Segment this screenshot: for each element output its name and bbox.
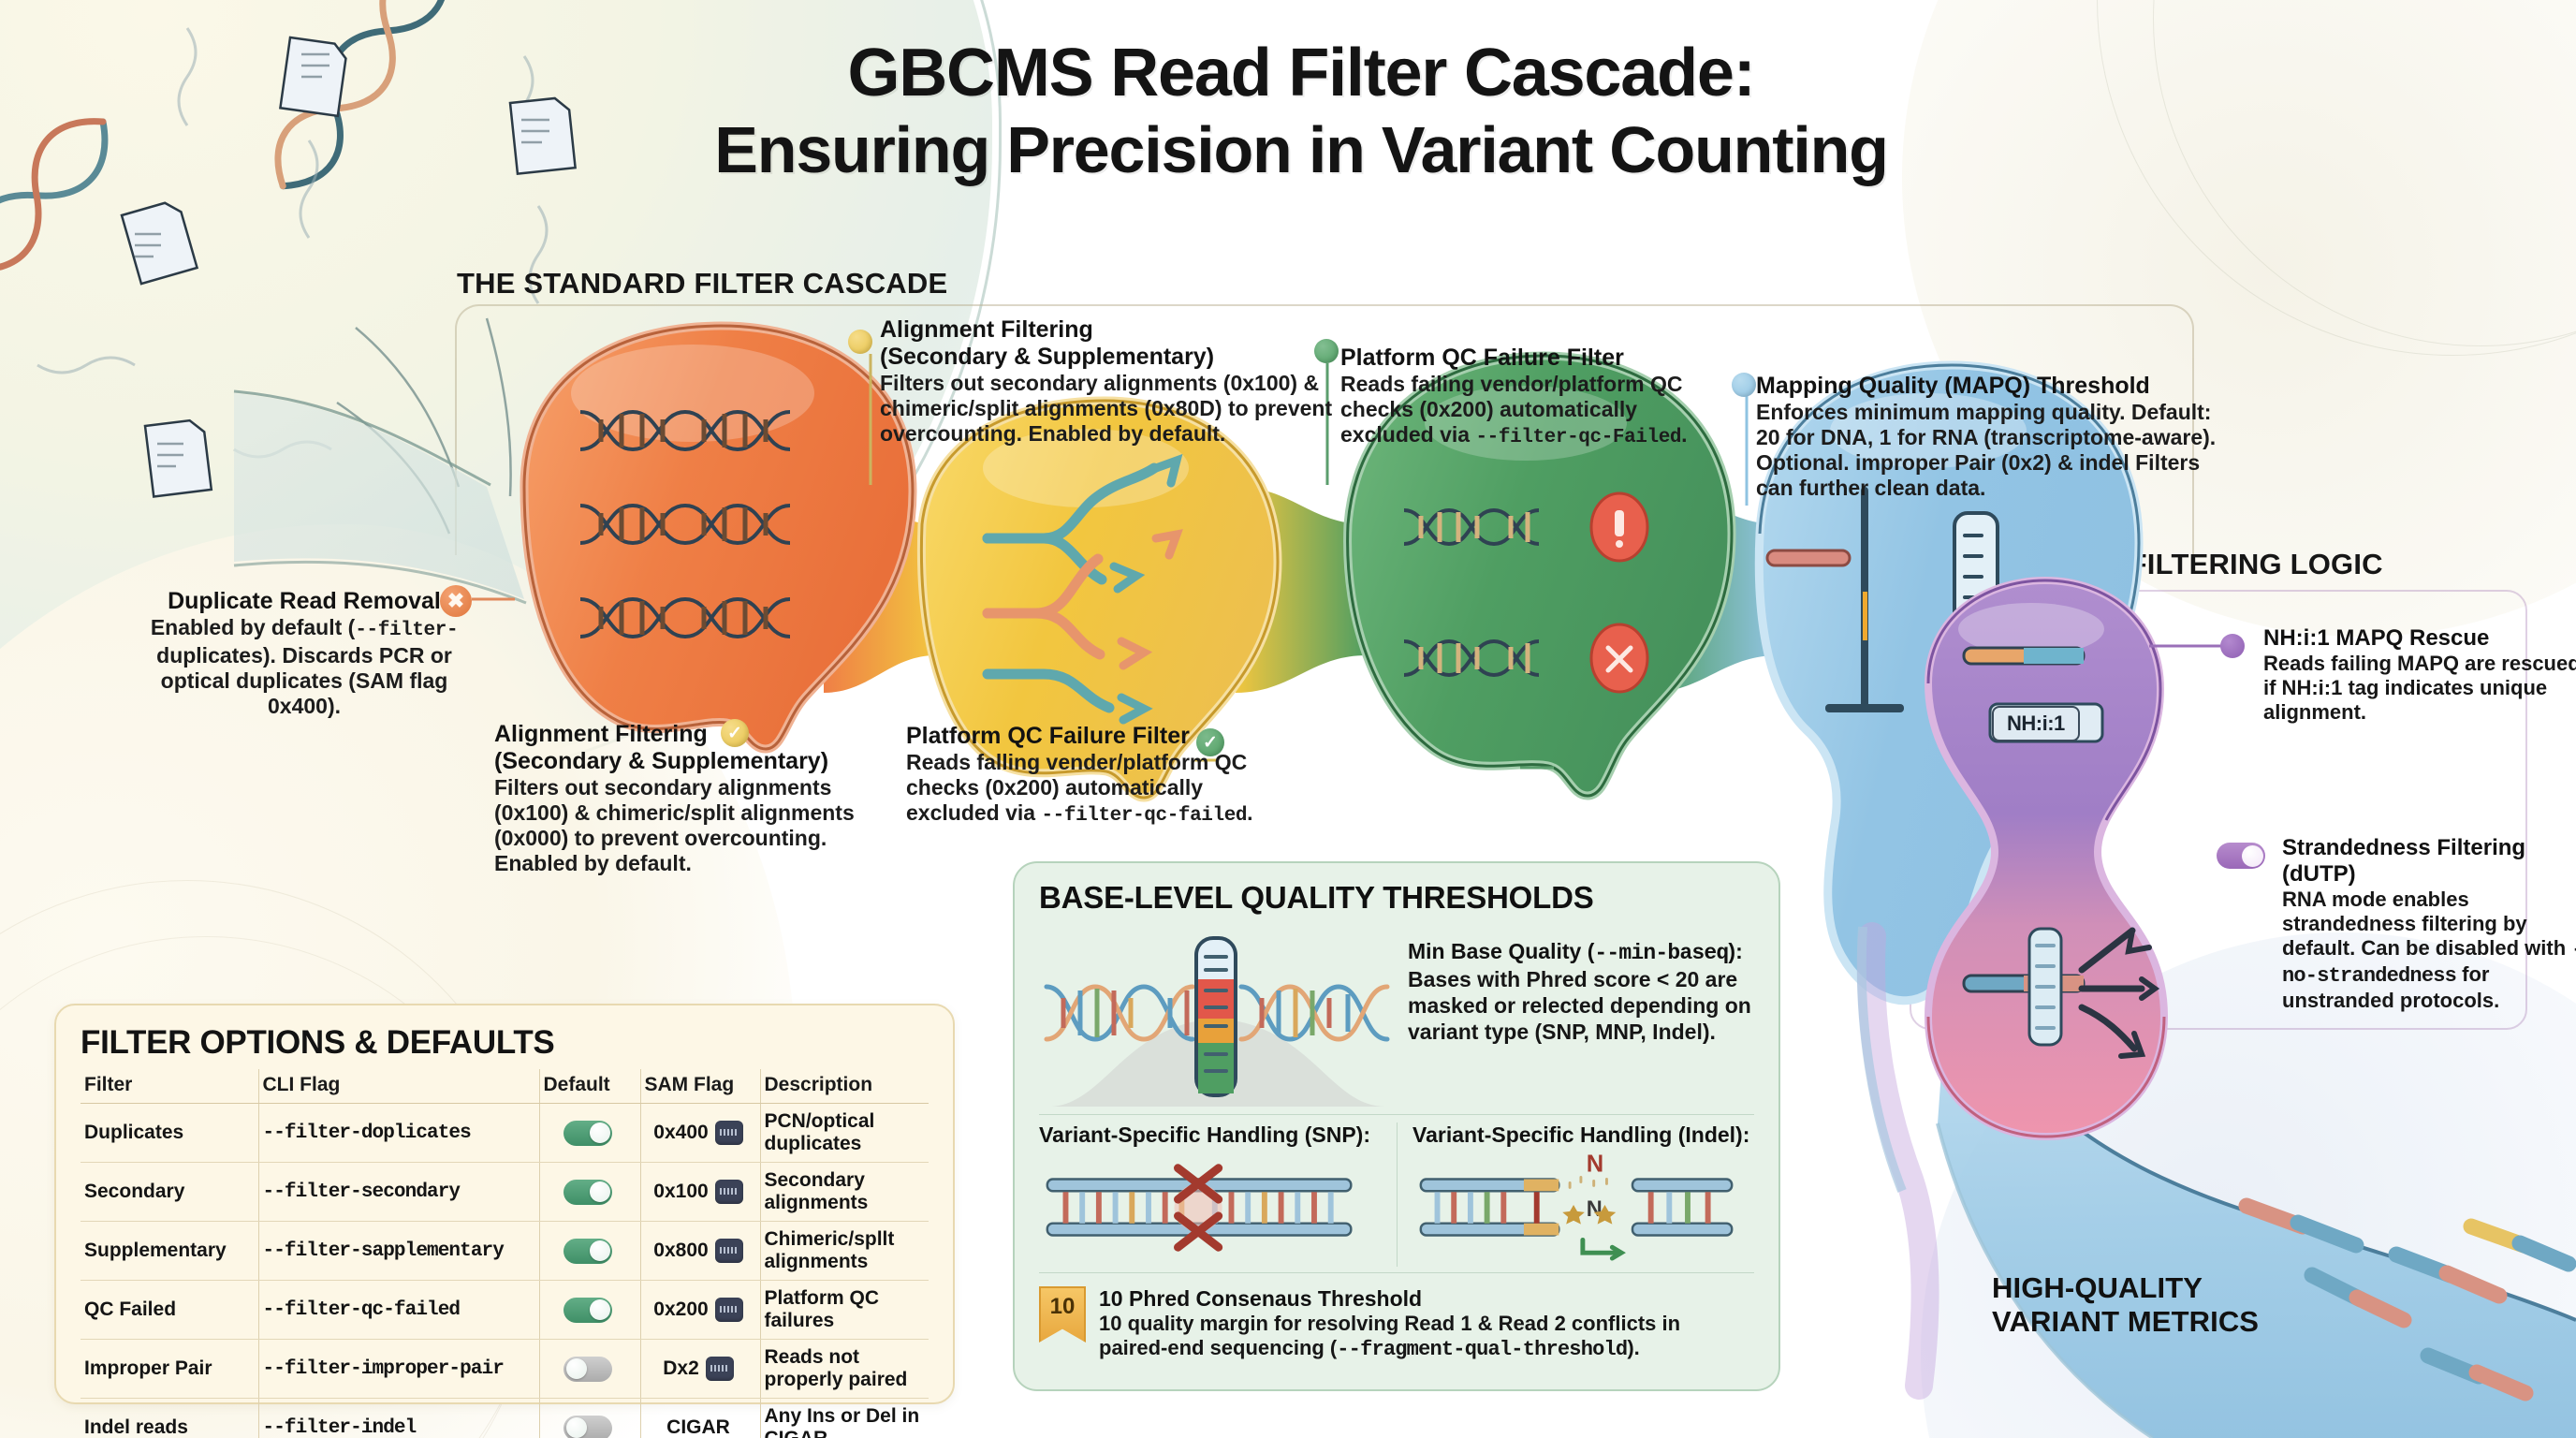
table-row: Duplicates--filter-doplicates0x400PCN/op… — [80, 1104, 929, 1163]
table-row: Indel reads--filter-indelCIGARAny Ins or… — [80, 1399, 929, 1438]
table-row: QC Failed--filter-qc-failed0x200Platform… — [80, 1281, 929, 1340]
callout-title-line-2: (dUTP) — [2282, 861, 2576, 888]
cell-description: Reads not properly paired — [760, 1340, 929, 1399]
callout-alignment-filtering-bottom: Alignment Filtering (Secondary & Supplem… — [494, 721, 906, 876]
rna-section-heading: RNA-SPECIFIC FILTERING LOGIC — [1912, 548, 2383, 581]
default-toggle[interactable] — [563, 1121, 612, 1146]
callout-body: Reads failing MAPQ are rescued if NH:i:1… — [2263, 652, 2576, 725]
cell-sam-flag: CIGAR — [640, 1399, 760, 1438]
indel-handling-illustration: N N — [1412, 1152, 1740, 1262]
table-row: Supplementary--filter-sapplementary0x800… — [80, 1222, 929, 1281]
min-base-quality-body: Bases with Phred score < 20 are masked o… — [1408, 966, 1754, 1045]
callout-duplicate-read-removal: Duplicate Read Removal Enabled by defaul… — [140, 588, 468, 719]
phred-consensus-note: 10 10 Phred Consenaus Threshold 10 quali… — [1039, 1281, 1754, 1362]
check-icon: ✓ — [721, 719, 749, 747]
sam-flag-value: 0x800 — [653, 1240, 708, 1262]
callout-body: Reads falling vender/platform QC checks … — [906, 750, 1262, 829]
callout-strandedness-filtering: Strandedness Filtering (dUTP) RNA mode e… — [2282, 835, 2576, 1013]
toggle-knob — [590, 1181, 610, 1202]
nh-tag-chip: NH:i:1 — [1992, 706, 2080, 741]
sam-flag-badge-icon — [715, 1180, 743, 1204]
table-header-row: Filter CLI Flag Default SAM Flag Descrip… — [80, 1069, 929, 1104]
outcome-label-line-2: VARIANT METRICS — [1992, 1305, 2259, 1339]
snp-handling-block: Variant-Specific Handling (SNP): — [1039, 1123, 1397, 1267]
callout-platform-qc-top: Platform QC Failure Filter Reads failing… — [1340, 345, 1724, 450]
sam-flag-badge-icon — [715, 1298, 743, 1322]
marker-dot-nh-rescue — [2220, 634, 2245, 658]
snp-rejection-illustration — [1039, 1152, 1367, 1262]
col-header-cli-flag: CLI Flag — [258, 1069, 539, 1104]
callout-title-line-1: Alignment Filtering — [494, 721, 906, 748]
default-toggle[interactable] — [563, 1298, 612, 1323]
sam-flag-value: 0x200 — [653, 1299, 708, 1321]
callout-mapq-threshold: Mapping Quality (MAPQ) Threshold Enforce… — [1756, 373, 2224, 501]
callout-title: Mapping Quality (MAPQ) Threshold — [1756, 373, 2224, 400]
base-quality-heading: BASE-LEVEL QUALITY THRESHOLDS — [1039, 880, 1754, 916]
cell-description: PCN/optical duplicates — [760, 1104, 929, 1163]
filter-options-heading: FILTER OPTIONS & DEFAULTS — [80, 1024, 929, 1062]
filter-options-table: Filter CLI Flag Default SAM Flag Descrip… — [80, 1069, 929, 1438]
callout-title: Platform QC Failure Filter — [1340, 345, 1724, 372]
sam-flag-badge-icon — [715, 1239, 743, 1263]
cell-filter-name: Duplicates — [80, 1104, 258, 1163]
col-header-sam-flag: SAM Flag — [640, 1069, 760, 1104]
callout-body: Filters out secondary alignments (0x100)… — [880, 371, 1376, 447]
toggle-knob — [590, 1240, 610, 1261]
snp-heading: Variant-Specific Handling (SNP): — [1039, 1123, 1383, 1148]
toggle-knob — [566, 1417, 587, 1438]
cell-filter-name: QC Failed — [80, 1281, 258, 1340]
callout-title-line-2: (Secondary & Supplementary) — [880, 344, 1376, 371]
col-header-filter: Filter — [80, 1069, 258, 1104]
callout-body: Reads failing vendor/platform QC checks … — [1340, 372, 1724, 450]
cell-description: Platform QC failures — [760, 1281, 929, 1340]
cell-sam-flag: 0x200 — [640, 1281, 760, 1340]
callout-body: Filters out secondary alignments (0x100)… — [494, 775, 906, 876]
sam-flag-value: Dx2 — [663, 1357, 699, 1380]
sam-flag-value: 0x100 — [653, 1181, 708, 1203]
indel-letter-top: N — [1587, 1152, 1603, 1178]
cell-filter-name: Indel reads — [80, 1399, 258, 1438]
col-header-description: Description — [760, 1069, 929, 1104]
outcome-label-line-1: HIGH-QUALITY — [1992, 1271, 2259, 1305]
phred-badge-value: 10 — [1050, 1294, 1076, 1320]
callout-body: Enforces minimum mapping quality. Defaul… — [1756, 400, 2224, 501]
callout-title-line-1: Alignment Filtering — [880, 316, 1376, 344]
cell-sam-flag: Dx2 — [640, 1340, 760, 1399]
outcome-label: HIGH-QUALITY VARIANT METRICS — [1992, 1271, 2259, 1339]
sam-flag-badge-icon — [715, 1121, 743, 1145]
cell-cli-flag: --filter-improper-pair — [258, 1340, 539, 1399]
sam-flag-value: CIGAR — [666, 1416, 730, 1438]
cell-description: Secondary alignments — [760, 1163, 929, 1222]
callout-title: NH:i:1 MAPQ Rescue — [2263, 625, 2576, 652]
toggle-knob — [2242, 845, 2263, 867]
marker-dot-alignment — [848, 330, 872, 354]
callout-title-line-1: Strandedness Filtering — [2282, 835, 2576, 861]
page-title: GBCMS Read Filter Cascade: Ensuring Prec… — [599, 36, 2003, 189]
cell-cli-flag: --filter-secondary — [258, 1163, 539, 1222]
toggle-knob — [590, 1123, 610, 1143]
phred-badge: 10 — [1039, 1286, 1086, 1343]
marker-dot-mapq — [1732, 373, 1756, 397]
callout-body: Enabled by default (--filter-duplicates)… — [140, 615, 468, 719]
table-row: Secondary--filter-secondary0x100Secondar… — [80, 1163, 929, 1222]
cell-filter-name: Improper Pair — [80, 1340, 258, 1399]
divider — [1039, 1114, 1754, 1115]
cell-default — [539, 1222, 640, 1281]
marker-dot-platform-qc — [1314, 339, 1339, 363]
col-header-default: Default — [539, 1069, 640, 1104]
cell-cli-flag: --filter-indel — [258, 1399, 539, 1438]
infographic-canvas: GBCMS Read Filter Cascade: Ensuring Prec… — [0, 0, 2576, 1438]
default-toggle[interactable] — [563, 1357, 612, 1382]
callout-alignment-filtering-top: Alignment Filtering (Secondary & Supplem… — [880, 316, 1376, 447]
cell-default — [539, 1340, 640, 1399]
cell-sam-flag: 0x100 — [640, 1163, 760, 1222]
cell-filter-name: Secondary — [80, 1163, 258, 1222]
indel-heading: Variant-Specific Handling (Indel): — [1412, 1123, 1754, 1148]
callout-title: Duplicate Read Removal — [140, 588, 468, 615]
callout-title-line-2: (Secondary & Supplementary) — [494, 748, 906, 775]
cell-default — [539, 1163, 640, 1222]
toggle-knob — [590, 1299, 610, 1320]
callout-body: RNA mode enables strandedness filtering … — [2282, 888, 2576, 1013]
cell-cli-flag: --filter-doplicates — [258, 1104, 539, 1163]
indel-handling-block: Variant-Specific Handling (Indel): — [1397, 1123, 1754, 1267]
close-icon: ✖ — [440, 585, 472, 617]
title-line-1: GBCMS Read Filter Cascade: — [599, 36, 2003, 110]
qc-fail-marker — [1591, 624, 1647, 692]
cascade-section-heading: THE STANDARD FILTER CASCADE — [457, 267, 947, 301]
default-toggle[interactable] — [563, 1416, 612, 1438]
cell-filter-name: Supplementary — [80, 1222, 258, 1281]
strandedness-toggle[interactable] — [2217, 843, 2265, 869]
min-base-quality-text: Min Base Quality (--min-baseq): Bases wi… — [1408, 921, 1754, 1045]
cell-sam-flag: 0x800 — [640, 1222, 760, 1281]
cell-description: Chimeric/spllt alignments — [760, 1222, 929, 1281]
table-row: Improper Pair--filter-improper-pairDx2Re… — [80, 1340, 929, 1399]
cell-default — [539, 1281, 640, 1340]
cell-cli-flag: --filter-qc-failed — [258, 1281, 539, 1340]
filter-options-panel: FILTER OPTIONS & DEFAULTS Filter CLI Fla… — [54, 1004, 955, 1404]
divider — [1039, 1272, 1754, 1273]
default-toggle[interactable] — [563, 1180, 612, 1205]
toggle-knob — [566, 1358, 587, 1379]
base-quality-panel: BASE-LEVEL QUALITY THRESHOLDS — [1013, 861, 1780, 1391]
sam-flag-badge-icon — [706, 1357, 734, 1381]
cell-default — [539, 1399, 640, 1438]
title-line-2: Ensuring Precision in Variant Counting — [599, 110, 2003, 189]
default-toggle[interactable] — [563, 1239, 612, 1264]
min-base-quality-title: Min Base Quality (--min-baseq): — [1408, 938, 1754, 966]
callout-nh-mapq-rescue: NH:i:1 MAPQ Rescue Reads failing MAPQ ar… — [2263, 625, 2576, 725]
phred-note-body: 10 quality margin for resolving Read 1 &… — [1099, 1312, 1754, 1362]
sam-flag-value: 0x400 — [653, 1122, 708, 1144]
phred-note-title: 10 Phred Consenaus Threshold — [1099, 1286, 1754, 1312]
check-icon: ✓ — [1196, 728, 1224, 756]
cell-description: Any Ins or Del in CIGAR — [760, 1399, 929, 1438]
cell-sam-flag: 0x400 — [640, 1104, 760, 1163]
cell-cli-flag: --filter-sapplementary — [258, 1222, 539, 1281]
base-quality-illustration — [1039, 921, 1395, 1108]
cell-default — [539, 1104, 640, 1163]
